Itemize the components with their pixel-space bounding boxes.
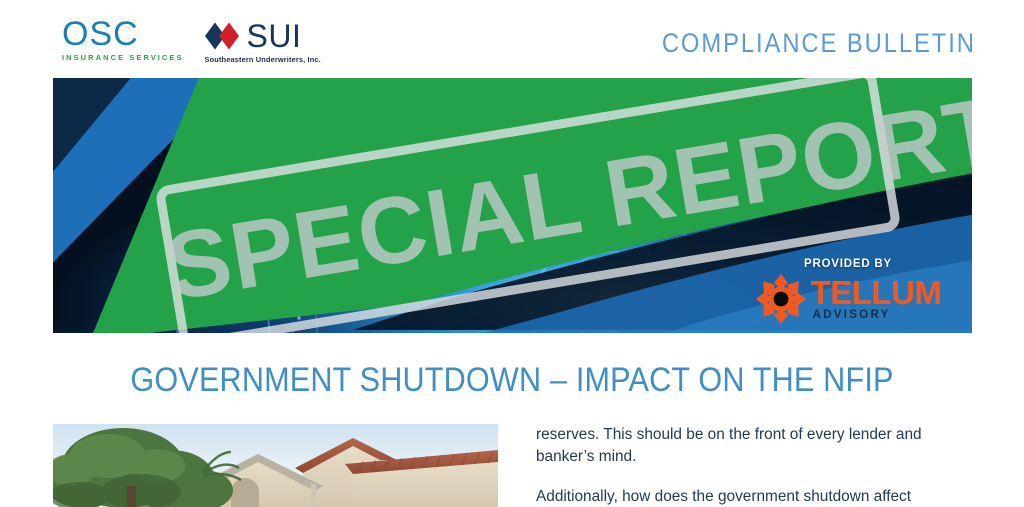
house-photo-artwork (53, 424, 498, 507)
article-paragraph: reserves. This should be on the front of… (536, 424, 954, 469)
tellum-wordmark: TELLUM (811, 277, 942, 308)
tellum-logo: TELLUM ADVISORY (742, 273, 954, 325)
article-paragraph: Additionally, how does the government sh… (536, 486, 954, 507)
article-photo (53, 424, 498, 507)
sui-diamond-icon (204, 21, 240, 51)
sui-logo-row: SUI (204, 20, 302, 52)
tellum-subtitle: ADVISORY (813, 310, 891, 322)
orange-starburst-icon (755, 273, 807, 325)
compliance-bulletin-label: COMPLIANCE BULLETIN (662, 28, 976, 59)
special-report-banner: SPECIAL REPORT PROVIDED BY (53, 78, 972, 333)
sponsor-block: PROVIDED BY (742, 258, 954, 325)
article-headline: GOVERNMENT SHUTDOWN – IMPACT ON THE NFIP (51, 361, 973, 400)
article-body: reserves. This should be on the front of… (536, 424, 954, 507)
provided-by-label: PROVIDED BY (742, 258, 954, 270)
osc-logo: OSC INSURANCE SERVICES (62, 18, 184, 62)
osc-logo-wordmark: OSC (62, 18, 139, 51)
sui-logo-wordmark: SUI (247, 20, 302, 52)
sui-logo: SUI Southeastern Underwriters, Inc. (204, 20, 321, 64)
masthead: OSC INSURANCE SERVICES SUI Southeastern … (0, 0, 1024, 78)
sui-logo-tagline: Southeastern Underwriters, Inc. (205, 55, 321, 64)
osc-logo-tagline: INSURANCE SERVICES (62, 53, 184, 62)
bulletin-page: OSC INSURANCE SERVICES SUI Southeastern … (0, 0, 1024, 507)
logo-group: OSC INSURANCE SERVICES SUI Southeastern … (62, 18, 321, 64)
tellum-wordmark-group: TELLUM ADVISORY (811, 277, 942, 322)
